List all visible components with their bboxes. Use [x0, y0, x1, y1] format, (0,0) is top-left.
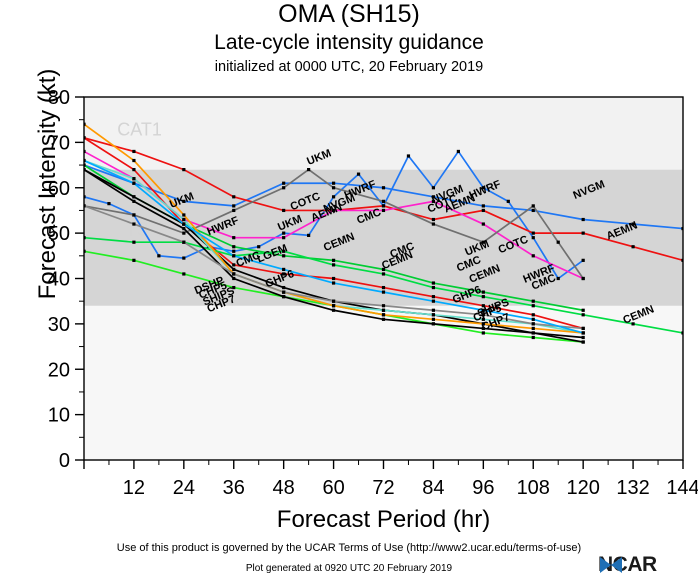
series-marker [232, 204, 235, 207]
series-marker [332, 281, 335, 284]
series-marker [257, 245, 260, 248]
series-marker [432, 309, 435, 312]
series-marker [382, 304, 385, 307]
series-marker [532, 204, 535, 207]
y-tick-label: 10 [48, 405, 70, 427]
series-marker [332, 263, 335, 266]
series-marker [582, 340, 585, 343]
series-marker [182, 168, 185, 171]
series-marker [432, 218, 435, 221]
x-tick-label: 24 [173, 477, 195, 499]
series-marker [532, 318, 535, 321]
series-marker [232, 254, 235, 257]
series-marker [182, 222, 185, 225]
series-marker [582, 218, 585, 221]
ncar-logo: NCAR [598, 553, 657, 577]
series-marker [132, 213, 135, 216]
series-marker [557, 241, 560, 244]
series-marker [582, 309, 585, 312]
series-marker [482, 222, 485, 225]
series-marker [332, 304, 335, 307]
band-cat1 [84, 97, 683, 170]
series-marker [432, 322, 435, 325]
series-marker [582, 336, 585, 339]
y-tick-label: 50 [48, 223, 70, 245]
series-marker [332, 182, 335, 185]
series-marker [582, 331, 585, 334]
series-marker [532, 232, 535, 235]
series-marker [132, 168, 135, 171]
series-marker [182, 241, 185, 244]
series-marker [532, 300, 535, 303]
series-marker [357, 173, 360, 176]
series-marker [132, 159, 135, 162]
x-tick-label: 120 [566, 477, 599, 499]
series-marker [307, 168, 310, 171]
series-marker [582, 232, 585, 235]
series-marker [582, 313, 585, 316]
series-marker [382, 204, 385, 207]
series-marker [532, 327, 535, 330]
x-tick-label: 84 [422, 477, 444, 499]
series-marker [232, 195, 235, 198]
series-marker [532, 331, 535, 334]
series-marker [332, 277, 335, 280]
series-marker [382, 286, 385, 289]
band-label: CAT1 [117, 120, 162, 140]
x-tick-label: 108 [517, 477, 550, 499]
series-marker [457, 150, 460, 153]
series-marker [557, 277, 560, 280]
series-marker [282, 209, 285, 212]
series-marker [232, 277, 235, 280]
series-marker [432, 286, 435, 289]
series-marker [182, 227, 185, 230]
chart-page: OMA (SH15) Late-cycle intensity guidance… [0, 0, 698, 580]
series-marker [232, 209, 235, 212]
x-tick-label: 48 [273, 477, 295, 499]
series-marker [432, 186, 435, 189]
x-tick-label: 72 [372, 477, 394, 499]
series-marker [232, 272, 235, 275]
series-marker [432, 281, 435, 284]
series-marker [132, 177, 135, 180]
series-marker [432, 313, 435, 316]
series-marker [532, 236, 535, 239]
intensity-guidance-plot: CAT1TSUKMUKMUKMUKMHWRFHWRFHWRFHWRFNVGMNV… [0, 0, 698, 500]
series-marker [382, 309, 385, 312]
series-marker [282, 291, 285, 294]
x-tick-label: 36 [223, 477, 245, 499]
series-marker [382, 313, 385, 316]
y-tick-label: 40 [48, 269, 70, 291]
y-tick-label: 30 [48, 314, 70, 336]
series-marker [482, 295, 485, 298]
series-marker [232, 268, 235, 271]
series-marker [482, 209, 485, 212]
series-marker [332, 186, 335, 189]
series-marker [157, 254, 160, 257]
series-marker [182, 213, 185, 216]
y-tick-label: 0 [59, 450, 70, 472]
series-marker [407, 154, 410, 157]
series-marker [532, 336, 535, 339]
series-marker [282, 295, 285, 298]
series-marker [307, 234, 310, 237]
series-marker [182, 218, 185, 221]
series-marker [432, 300, 435, 303]
series-marker [132, 241, 135, 244]
series-marker [232, 245, 235, 248]
series-marker [232, 250, 235, 253]
series-marker [432, 318, 435, 321]
series-marker [382, 318, 385, 321]
series-marker [182, 272, 185, 275]
ncar-swoosh-icon [598, 553, 624, 575]
series-marker [332, 300, 335, 303]
x-tick-label: 60 [322, 477, 344, 499]
series-marker [232, 263, 235, 266]
series-marker [507, 200, 510, 203]
series-marker [382, 186, 385, 189]
series-marker [132, 150, 135, 153]
series-marker [482, 204, 485, 207]
series-marker [132, 200, 135, 203]
series-marker [532, 313, 535, 316]
series-marker [182, 256, 185, 259]
series-marker [582, 259, 585, 262]
series-marker [282, 286, 285, 289]
series-marker [132, 222, 135, 225]
series-marker [132, 195, 135, 198]
series-marker [332, 309, 335, 312]
series-marker [532, 304, 535, 307]
x-tick-label: 132 [616, 477, 649, 499]
y-tick-label: 80 [48, 87, 70, 109]
series-marker [382, 209, 385, 212]
series-marker [582, 277, 585, 280]
plot-generated-text: Plot generated at 0920 UTC 20 February 2… [0, 563, 698, 574]
series-marker [582, 327, 585, 330]
series-marker [332, 195, 335, 198]
y-tick-label: 60 [48, 178, 70, 200]
series-marker [532, 254, 535, 257]
series-marker [282, 236, 285, 239]
series-marker [532, 209, 535, 212]
series-marker [232, 236, 235, 239]
x-tick-label: 96 [472, 477, 494, 499]
series-marker [282, 182, 285, 185]
y-tick-label: 20 [48, 359, 70, 381]
series-marker [432, 222, 435, 225]
series-marker [631, 245, 634, 248]
series-marker [332, 259, 335, 262]
series-marker [432, 295, 435, 298]
series-marker [107, 202, 110, 205]
x-tick-label: 12 [123, 477, 145, 499]
series-marker [382, 272, 385, 275]
series-marker [182, 232, 185, 235]
x-axis-label: Forecast Period (hr) [84, 506, 683, 534]
series-marker [132, 259, 135, 262]
series-marker [132, 182, 135, 185]
x-tick-label: 144 [666, 477, 698, 499]
series-marker [532, 322, 535, 325]
terms-of-use-text: Use of this product is governed by the U… [0, 542, 698, 554]
series-marker [382, 291, 385, 294]
series-marker [382, 200, 385, 203]
y-tick-label: 70 [48, 132, 70, 154]
series-marker [282, 186, 285, 189]
